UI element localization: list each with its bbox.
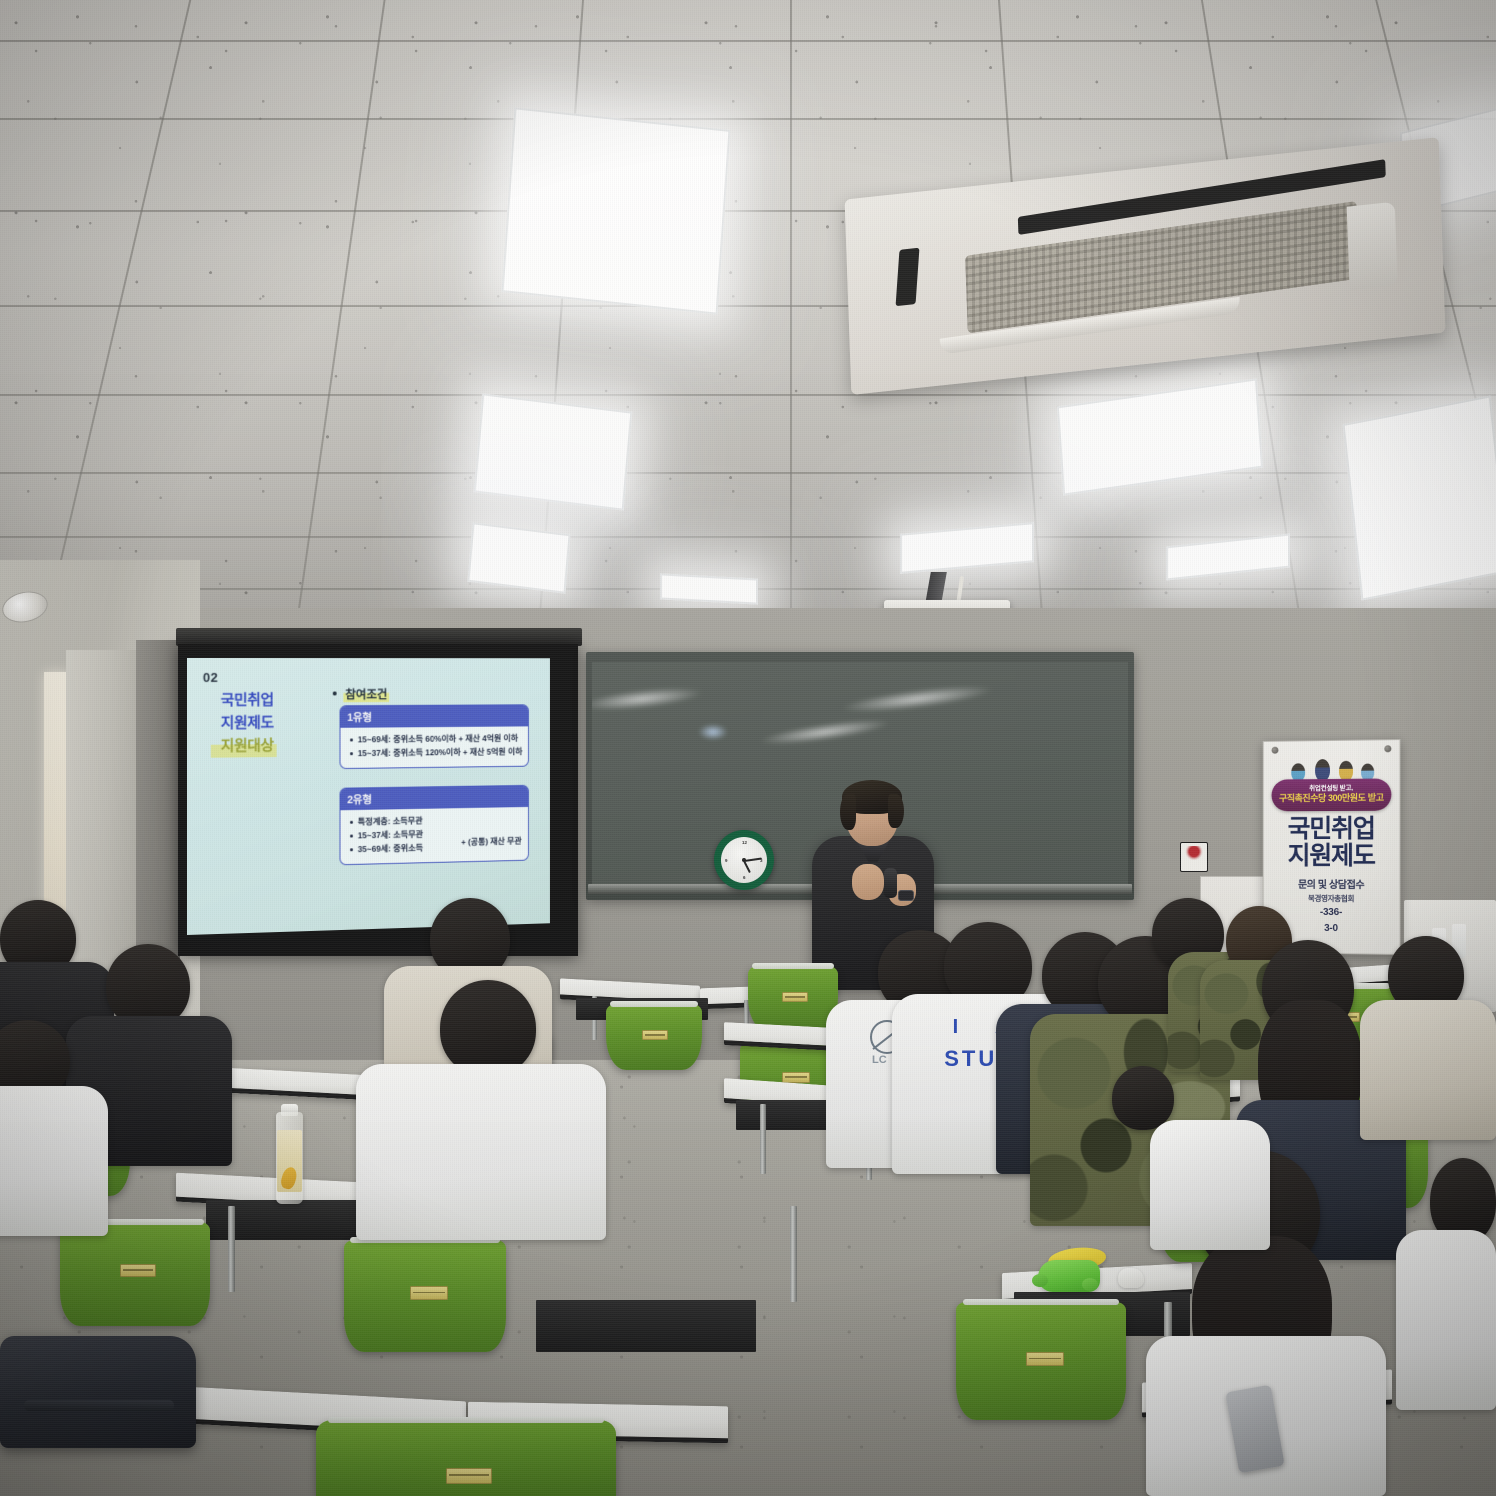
earbuds-case bbox=[1118, 1268, 1144, 1288]
presenter-hair-side bbox=[840, 794, 856, 830]
ceiling-light-panel bbox=[501, 107, 730, 314]
bottle-label-text bbox=[279, 1134, 300, 1140]
banner-grommet bbox=[1272, 747, 1279, 754]
ceiling-grid-line bbox=[0, 394, 1496, 396]
chair bbox=[344, 1240, 506, 1352]
plush-arm bbox=[1032, 1274, 1048, 1287]
slide-type1-box: 1유형 15~69세: 중위소득 60%이하 + 재산 4억원 이하 15~37… bbox=[340, 704, 529, 769]
chair bbox=[60, 1222, 210, 1326]
ceiling-light-panel bbox=[467, 522, 570, 593]
chair-label-sticker bbox=[446, 1468, 492, 1484]
chair-label-sticker bbox=[120, 1264, 156, 1277]
presenter-wristwatch bbox=[898, 890, 914, 901]
banner-organization: 북경영자총협회 bbox=[1264, 893, 1400, 905]
ceiling-grid-line bbox=[0, 472, 1496, 474]
slide-title-line-3: 지원대상 bbox=[211, 735, 277, 758]
board-eraser-smudge bbox=[592, 684, 703, 714]
attendee-torso bbox=[1150, 1120, 1270, 1250]
classroom-photo: 02 국민취업 지원제도 지원대상 참여조건 1유형 15~69세: 중위소득 … bbox=[0, 0, 1496, 1496]
banner-title: 국민취업 지원제도 bbox=[1264, 816, 1400, 869]
chair bbox=[316, 1420, 616, 1496]
type1-header: 1유형 bbox=[340, 705, 528, 728]
banner-subtitle: 문의 및 상담접수 bbox=[1264, 876, 1400, 892]
slide-bullet-heading: 참여조건 bbox=[343, 685, 389, 702]
attendee-head bbox=[440, 980, 536, 1076]
chair bbox=[606, 1004, 702, 1070]
ceiling-light-panel bbox=[660, 573, 758, 604]
desk-leg bbox=[790, 1206, 797, 1302]
presentation-slide: 02 국민취업 지원제도 지원대상 참여조건 1유형 15~69세: 중위소득 … bbox=[187, 658, 550, 935]
ceiling-grid-line bbox=[0, 118, 1496, 120]
banner-grommet bbox=[1384, 745, 1391, 752]
clock-hour-hand bbox=[743, 861, 751, 874]
type1-body: 15~69세: 중위소득 60%이하 + 재산 4억원 이하 15~37세: 중… bbox=[340, 726, 528, 768]
banner-title-line2: 지원제도 bbox=[1264, 842, 1400, 869]
chair-label-sticker bbox=[1026, 1352, 1064, 1366]
banner-title-line1: 국민취업 bbox=[1264, 816, 1400, 843]
ceiling-light-panel bbox=[474, 393, 633, 510]
attendee-torso bbox=[0, 1086, 108, 1236]
slide-title-line-1: 국민취업 bbox=[211, 690, 328, 713]
slide-type2-box: 2유형 특정계층: 소득무관 15~37세: 소득무관 35~69세: 중위소득… bbox=[340, 785, 529, 865]
slide-number: 02 bbox=[203, 670, 218, 685]
attendee-torso bbox=[1396, 1230, 1496, 1410]
desk-modesty-panel bbox=[536, 1300, 756, 1352]
chair-label-sticker bbox=[782, 992, 808, 1002]
backpack-strap bbox=[24, 1400, 174, 1411]
chair-label-sticker bbox=[410, 1286, 448, 1300]
banner-ribbon-line2: 구직촉진수당 300만원도 받고 bbox=[1272, 791, 1392, 805]
plush-arm bbox=[1082, 1278, 1098, 1291]
presenter-hair-side bbox=[888, 794, 904, 828]
clock-numeral: 6 bbox=[743, 875, 746, 880]
clock-center-pin bbox=[742, 858, 746, 862]
ac-flap bbox=[1347, 202, 1398, 291]
desk-leg bbox=[228, 1206, 235, 1292]
banner-phone-line1: -336- bbox=[1264, 906, 1400, 918]
projection-screen: 02 국민취업 지원제도 지원대상 참여조건 1유형 15~69세: 중위소득 … bbox=[178, 644, 578, 956]
chair-label-sticker bbox=[782, 1072, 810, 1083]
attendee-head bbox=[1112, 1066, 1174, 1130]
chair bbox=[956, 1302, 1126, 1420]
slide-title-line-2: 지원제도 bbox=[211, 712, 328, 735]
banana-plush-toy bbox=[1036, 1248, 1112, 1296]
fire-safety-sign bbox=[1180, 842, 1208, 872]
banner-ribbon: 취업컨설팅 받고, 구직촉진수당 300만원도 받고 bbox=[1272, 778, 1392, 811]
chair-label-sticker bbox=[642, 1030, 668, 1040]
board-eraser-smudge bbox=[760, 715, 891, 749]
presenter-left-hand bbox=[852, 864, 884, 900]
clock-numeral: 9 bbox=[725, 858, 728, 863]
slide-title-block: 국민취업 지원제도 지원대상 bbox=[211, 690, 328, 759]
wall-clock: 12 3 6 9 bbox=[714, 830, 774, 890]
banner-figure bbox=[1315, 759, 1330, 781]
attendee-torso bbox=[356, 1064, 606, 1240]
presenter-microphone bbox=[884, 868, 897, 898]
corn-illustration-icon bbox=[279, 1165, 299, 1190]
desk-leg bbox=[760, 1104, 766, 1174]
ceiling bbox=[0, 0, 1496, 660]
ceiling-grid-line bbox=[0, 40, 1496, 42]
ceiling-light-panel bbox=[1343, 395, 1496, 600]
type2-side-note: + (공통) 재산 무관 bbox=[461, 835, 521, 848]
board-eraser-smudge bbox=[841, 681, 992, 717]
chair bbox=[748, 966, 838, 1032]
ac-vent bbox=[896, 248, 920, 307]
fire-extinguisher-icon bbox=[1185, 846, 1203, 860]
ceiling-grid-line bbox=[790, 0, 792, 640]
attendee-torso bbox=[1360, 1000, 1496, 1140]
bottle-label bbox=[277, 1130, 302, 1192]
clock-numeral: 12 bbox=[742, 840, 747, 845]
tshirt-logo-caption: LC bbox=[872, 1054, 887, 1066]
type1-item: 15~37세: 중위소득 120%이하 + 재산 5억원 이하 bbox=[348, 746, 521, 761]
backpack-on-desk bbox=[0, 1336, 196, 1448]
board-glare-spot bbox=[698, 724, 728, 740]
